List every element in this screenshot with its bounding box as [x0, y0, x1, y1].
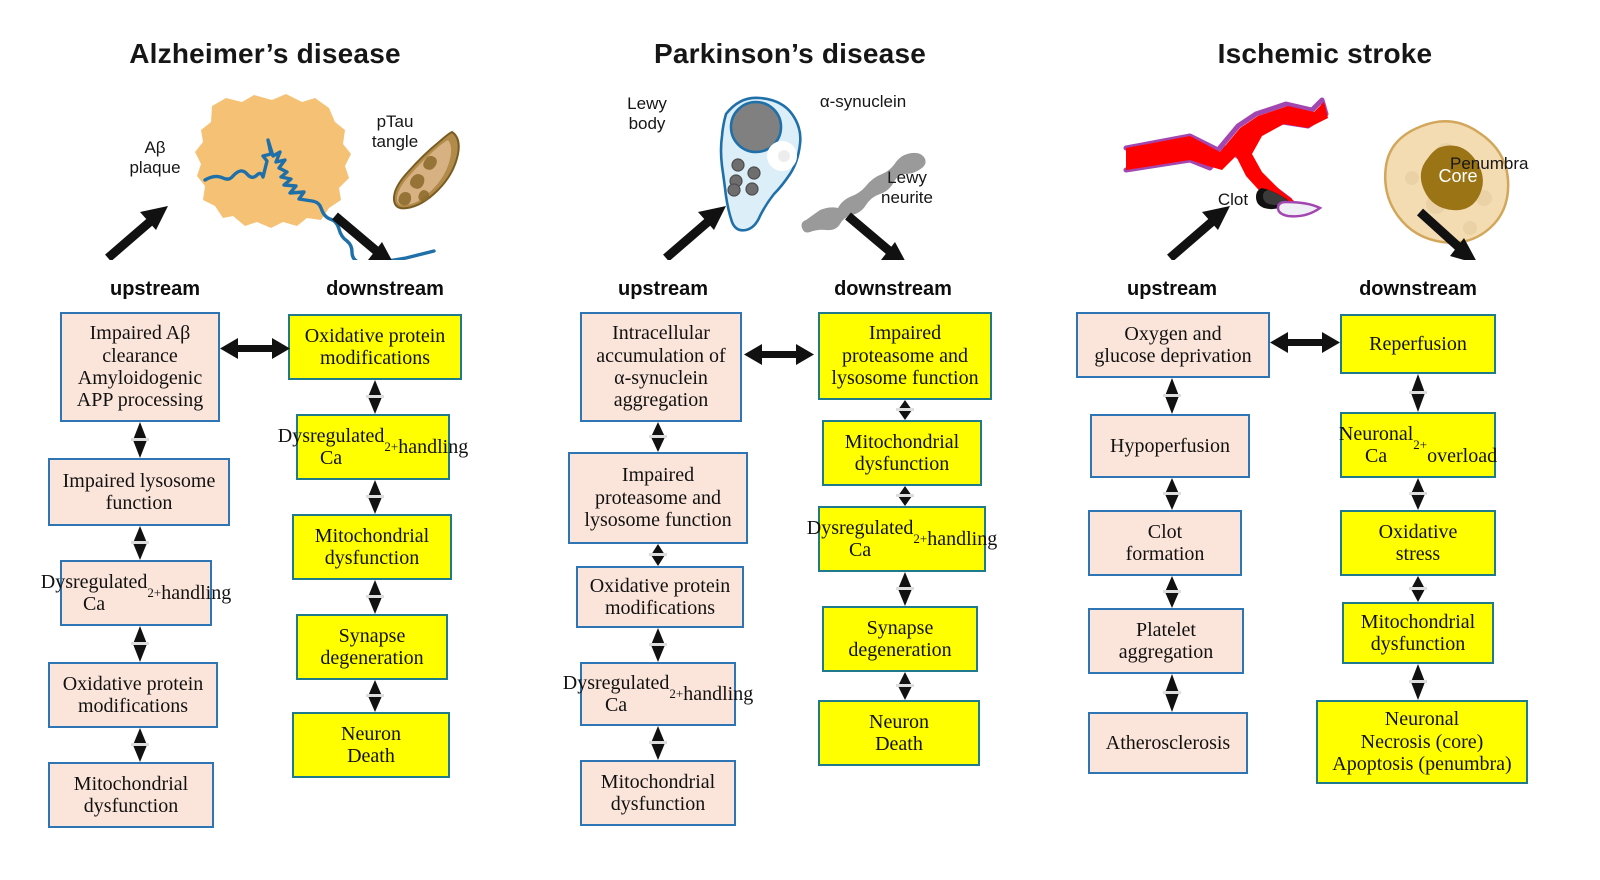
is-downstream-box-4[interactable]: Mitochondrial dysfunction: [1342, 602, 1494, 664]
page-title-parkinsons: Parkinson’s disease: [530, 38, 1050, 70]
alz-upstream-downstream-link-arrow: [220, 336, 290, 367]
alz-downstream-box-5[interactable]: Neuron Death: [292, 712, 450, 778]
alpha-synuclein-label: α-synuclein: [798, 92, 928, 112]
is-down-connector-4: [1408, 664, 1428, 700]
alz-upstream-box-2[interactable]: Impaired lysosome function: [48, 458, 230, 526]
alzheimers-upstream-label: upstream: [70, 278, 240, 301]
pd-upstream-downstream-link-arrow: [744, 342, 814, 373]
is-up-connector-1: [1162, 378, 1182, 414]
panel-ischemic-stroke: Ischemic stroke: [1050, 0, 1600, 880]
penumbra-label: Penumbra: [1450, 154, 1580, 174]
pd-down-connector-4: [895, 672, 915, 700]
is-downstream-box-1[interactable]: Reperfusion: [1340, 314, 1496, 374]
abeta-plaque-label: Aβ plaque: [112, 138, 198, 178]
alz-upstream-box-1[interactable]: Impaired Aβ clearance Amyloidogenic APP …: [60, 312, 220, 422]
ischemic-stroke-illustration: Clot Core Penumbra: [1050, 70, 1600, 260]
parkinsons-upstream-label: upstream: [578, 278, 748, 301]
pd-up-connector-1: [648, 422, 668, 452]
is-up-connector-3: [1162, 576, 1182, 608]
pd-up-connector-4: [648, 726, 668, 760]
lewy-body-label: Lewy body: [608, 94, 686, 134]
alz-down-connector-4: [365, 680, 385, 712]
pd-down-connector-3: [895, 572, 915, 606]
alz-down-connector-3: [365, 580, 385, 614]
is-down-connector-1: [1408, 374, 1428, 412]
page-title-alzheimers: Alzheimer’s disease: [0, 38, 530, 70]
pd-down-connector-2: [895, 486, 915, 506]
parkinsons-illustration: Lewy body α-synuclein Lewy neurite: [530, 70, 1050, 260]
panel-parkinsons: Parkinson’s disease: [530, 0, 1050, 880]
stroke-upstream-label: upstream: [1082, 278, 1262, 301]
pd-downstream-box-1[interactable]: Impaired proteasome and lysosome functio…: [818, 312, 992, 400]
pd-downstream-box-4[interactable]: Synapse degeneration: [822, 606, 978, 672]
is-down-connector-3: [1408, 576, 1428, 602]
clot-label: Clot: [1198, 190, 1268, 210]
downstream-arrow-icon: [848, 216, 909, 260]
pd-up-connector-3: [648, 628, 668, 662]
is-upstream-box-5[interactable]: Atherosclerosis: [1088, 712, 1248, 774]
pd-downstream-box-3[interactable]: Dysregulated Ca2+ handling: [818, 506, 986, 572]
alz-up-connector-1: [130, 422, 150, 458]
alz-up-connector-2: [130, 526, 150, 560]
is-down-connector-2: [1408, 478, 1428, 510]
alz-downstream-box-2[interactable]: Dysregulated Ca2+ handling: [296, 414, 450, 480]
alzheimers-downstream-label: downstream: [290, 278, 480, 301]
pd-upstream-box-2[interactable]: Impaired proteasome and lysosome functio…: [568, 452, 748, 544]
alz-upstream-box-5[interactable]: Mitochondrial dysfunction: [48, 762, 214, 828]
pd-upstream-box-4[interactable]: Dysregulated Ca2+ handling: [580, 662, 736, 726]
panel-alzheimers: Alzheimer’s disease: [0, 0, 530, 880]
is-up-connector-2: [1162, 478, 1182, 510]
alz-upstream-box-4[interactable]: Oxidative protein modifications: [48, 662, 218, 728]
alz-down-connector-1: [365, 380, 385, 414]
pd-downstream-box-2[interactable]: Mitochondrial dysfunction: [822, 420, 982, 486]
is-up-connector-4: [1162, 674, 1182, 712]
is-downstream-box-3[interactable]: Oxidative stress: [1340, 510, 1496, 576]
page-title-ischemic-stroke: Ischemic stroke: [1050, 38, 1600, 70]
pd-upstream-box-5[interactable]: Mitochondrial dysfunction: [580, 760, 736, 826]
alz-downstream-box-3[interactable]: Mitochondrial dysfunction: [292, 514, 452, 580]
is-upstream-box-1[interactable]: Oxygen and glucose deprivation: [1076, 312, 1270, 378]
alz-downstream-box-4[interactable]: Synapse degeneration: [296, 614, 448, 680]
alz-upstream-box-3[interactable]: Dysregulated Ca2+ handling: [60, 560, 212, 626]
ptau-tangle-label: pTau tangle: [350, 112, 440, 152]
upstream-arrow-icon: [666, 206, 726, 258]
alz-downstream-box-1[interactable]: Oxidative protein modifications: [288, 314, 462, 380]
stroke-downstream-label: downstream: [1318, 278, 1518, 301]
pd-upstream-box-3[interactable]: Oxidative protein modifications: [576, 566, 744, 628]
upstream-arrow-icon: [1170, 206, 1230, 258]
alzheimers-illustration: Aβ plaque pTau tangle: [0, 70, 530, 260]
alz-up-connector-3: [130, 626, 150, 662]
upstream-arrow-icon: [108, 206, 168, 258]
is-upstream-downstream-link-arrow: [1270, 330, 1340, 361]
pd-downstream-box-5[interactable]: Neuron Death: [818, 700, 980, 766]
pd-down-connector-1: [895, 400, 915, 420]
pd-upstream-box-1[interactable]: Intracellular accumulation of α-synuclei…: [580, 312, 742, 422]
pd-up-connector-2: [648, 544, 668, 566]
is-upstream-box-3[interactable]: Clot formation: [1088, 510, 1242, 576]
is-downstream-box-5[interactable]: Neuronal Necrosis (core) Apoptosis (penu…: [1316, 700, 1528, 784]
is-upstream-box-2[interactable]: Hypoperfusion: [1090, 414, 1250, 478]
parkinsons-downstream-label: downstream: [798, 278, 988, 301]
lewy-neurite-label: Lewy neurite: [862, 168, 952, 208]
is-upstream-box-4[interactable]: Platelet aggregation: [1088, 608, 1244, 674]
alz-down-connector-2: [365, 480, 385, 514]
is-downstream-box-2[interactable]: Neuronal Ca2+ overload: [1340, 412, 1496, 478]
abeta-plaque-graphic: [0, 70, 530, 260]
alz-up-connector-4: [130, 728, 150, 762]
